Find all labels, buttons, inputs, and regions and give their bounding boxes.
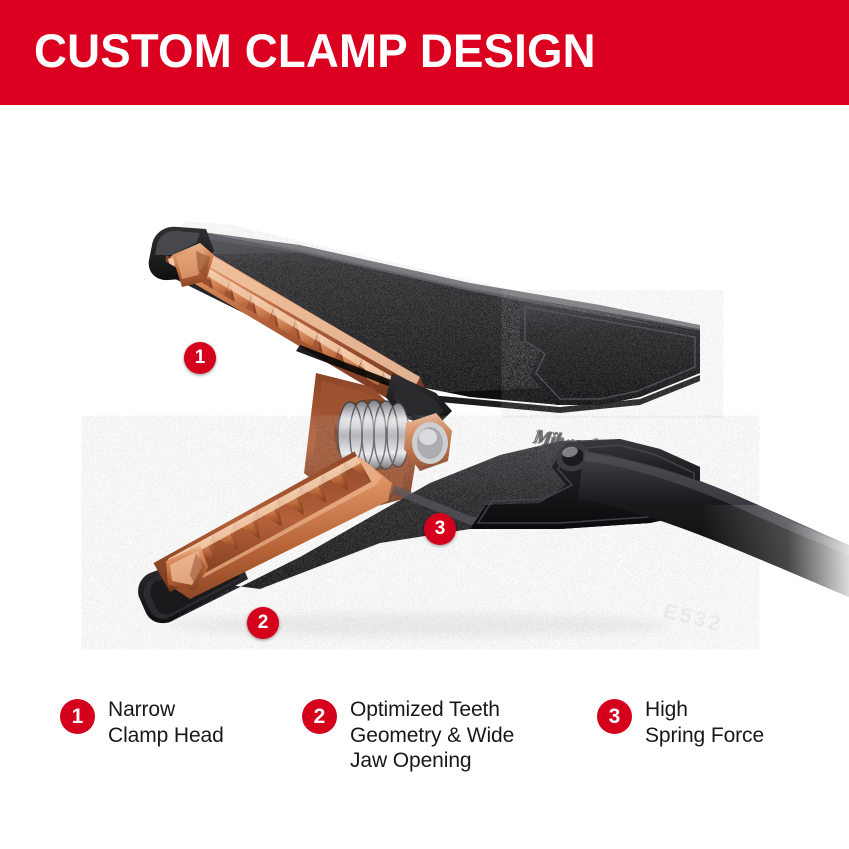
legend-label-3: High Spring Force [645, 697, 764, 748]
legend-label-1: Narrow Clamp Head [108, 697, 224, 748]
legend-label-2: Optimized Teeth Geometry & Wide Jaw Open… [350, 697, 514, 774]
callout-badge-3: 3 [424, 513, 456, 545]
legend-badge-3: 3 [597, 699, 632, 734]
callout-badge-2: 2 [247, 607, 279, 639]
callout-badge-1: 1 [184, 342, 216, 374]
legend-badge-2: 2 [302, 699, 337, 734]
legend-item-2: 2 Optimized Teeth Geometry & Wide Jaw Op… [302, 697, 592, 774]
page-title: CUSTOM CLAMP DESIGN [34, 22, 596, 80]
header-banner: CUSTOM CLAMP DESIGN [0, 0, 849, 105]
legend-item-3: 3 High Spring Force [597, 697, 827, 748]
clamp-illustration: Milwaukee Milwaukee [0, 105, 849, 665]
legend: 1 Narrow Clamp Head 2 Optimized Teeth Ge… [0, 683, 849, 813]
legend-item-1: 1 Narrow Clamp Head [60, 697, 310, 748]
legend-badge-1: 1 [60, 699, 95, 734]
product-figure: Milwaukee Milwaukee [0, 105, 849, 665]
